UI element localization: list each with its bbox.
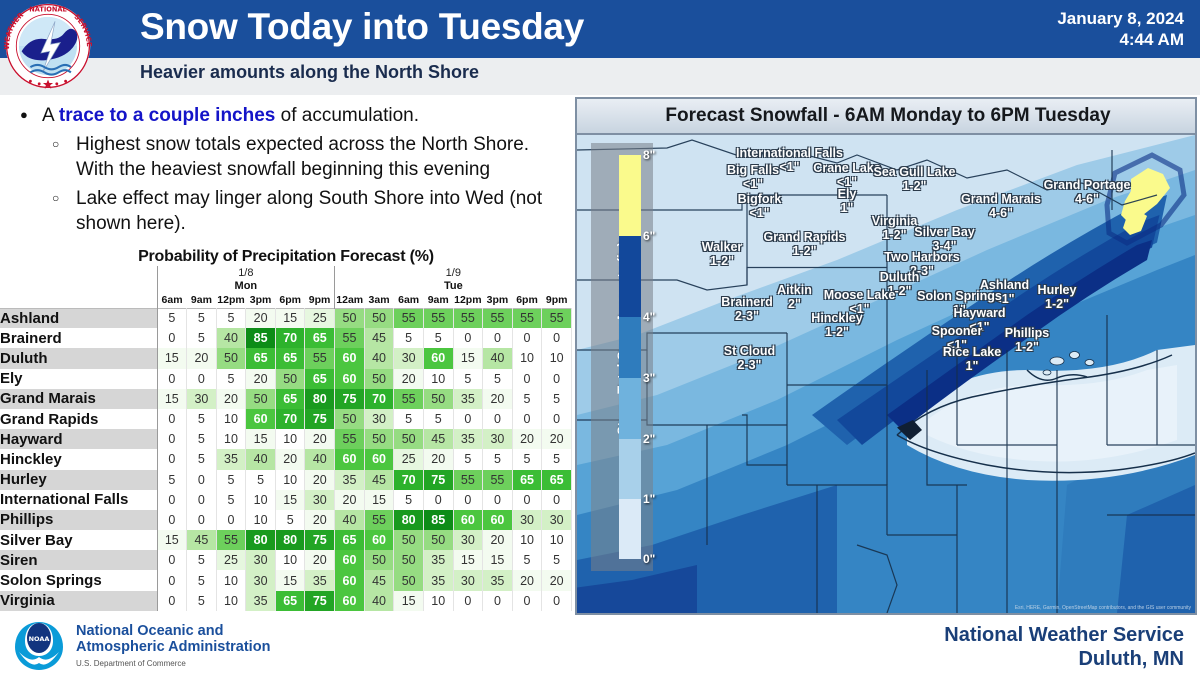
- colorbar-tick-1: 1": [643, 492, 655, 506]
- pop-cell: 10: [275, 550, 305, 570]
- map-title-bar: Forecast Snowfall - 6AM Monday to 6PM Tu…: [577, 99, 1197, 135]
- pop-cell: 60: [335, 550, 365, 570]
- pop-cell: 40: [305, 449, 335, 469]
- colorbar-tick-4: 4": [643, 310, 655, 324]
- noaa-line-2: Atmospheric Administration: [76, 639, 270, 655]
- pop-cell: 75: [305, 591, 335, 611]
- pop-cell: 80: [305, 389, 335, 409]
- national-weather-service-seal-icon: NATIONAL WEATHER SERVICE: [4, 2, 92, 90]
- pop-cell: 35: [453, 389, 483, 409]
- pop-cell: 30: [483, 429, 513, 449]
- pop-cell: 35: [335, 470, 365, 490]
- pop-cell: 15: [453, 550, 483, 570]
- pop-cell: 20: [512, 570, 542, 590]
- pop-row-city: Duluth: [0, 348, 157, 368]
- pop-cell: 25: [216, 550, 246, 570]
- pop-cell: 0: [187, 470, 217, 490]
- table-row: Silver Bay1545558080756560505030201010: [0, 530, 572, 550]
- pop-header-hour-6: 12am: [335, 293, 365, 308]
- table-row: Hurley505510203545707555556565: [0, 470, 572, 490]
- colorbar-segment-3: [619, 378, 641, 439]
- pop-header-day1-date: 1/8: [157, 266, 335, 279]
- noaa-department: U.S. Department of Commerce: [76, 659, 186, 668]
- pop-cell: 20: [542, 570, 572, 590]
- pop-cell: 0: [453, 591, 483, 611]
- table-row: Virginia0510356575604015100000: [0, 591, 572, 611]
- pop-cell: 10: [512, 348, 542, 368]
- table-row: Solon Springs05103015356045503530352020: [0, 570, 572, 590]
- pop-cell: 5: [512, 550, 542, 570]
- pop-cell: 50: [246, 389, 276, 409]
- pop-cell: 45: [364, 570, 394, 590]
- pop-row-city: Silver Bay: [0, 530, 157, 550]
- pop-cell: 80: [394, 510, 424, 530]
- pop-cell: 70: [275, 328, 305, 348]
- pop-cell: 15: [483, 550, 513, 570]
- bullet-primary-post: of accumulation.: [275, 105, 419, 126]
- pop-cell: 20: [305, 550, 335, 570]
- pop-cell: 65: [542, 470, 572, 490]
- pop-cell: 60: [483, 510, 513, 530]
- pop-cell: 10: [512, 530, 542, 550]
- pop-cell: 5: [187, 429, 217, 449]
- pop-cell: 50: [364, 550, 394, 570]
- colorbar-tick-6: 6": [643, 229, 655, 243]
- colorbar-tick-0: 0": [643, 552, 655, 566]
- pop-cell: 15: [157, 530, 187, 550]
- pop-cell: 75: [423, 470, 453, 490]
- pop-header-blank-3: [0, 293, 157, 308]
- pop-cell: 15: [275, 490, 305, 510]
- pop-cell: 15: [364, 490, 394, 510]
- pop-cell: 0: [157, 429, 187, 449]
- pop-cell: 15: [275, 570, 305, 590]
- pop-cell: 55: [335, 429, 365, 449]
- pop-header-blank-2: [0, 279, 157, 293]
- pop-cell: 0: [157, 369, 187, 389]
- pop-cell: 5: [542, 550, 572, 570]
- pop-cell: 20: [246, 308, 276, 328]
- pop-cell: 50: [216, 348, 246, 368]
- table-row: Ashland5552015255050555555555555: [0, 308, 572, 328]
- pop-cell: 35: [483, 570, 513, 590]
- pop-cell: 50: [423, 389, 453, 409]
- table-row: Ely005205065605020105500: [0, 369, 572, 389]
- header-datetime: January 8, 2024 4:44 AM: [1057, 8, 1184, 50]
- pop-cell: 0: [157, 409, 187, 429]
- pop-cell: 10: [216, 429, 246, 449]
- pop-cell: 50: [394, 570, 424, 590]
- pop-cell: 0: [453, 409, 483, 429]
- pop-cell: 65: [275, 389, 305, 409]
- pop-cell: 60: [335, 570, 365, 590]
- pop-row-city: Ely: [0, 369, 157, 389]
- pop-cell: 5: [275, 510, 305, 530]
- pop-cell: 30: [187, 389, 217, 409]
- pop-cell: 20: [275, 449, 305, 469]
- footer-bar: NOAA National Oceanic and Atmospheric Ad…: [0, 615, 1200, 675]
- pop-cell: 5: [157, 470, 187, 490]
- table-row: Grand Marais15302050658075705550352055: [0, 389, 572, 409]
- pop-cell: 5: [453, 449, 483, 469]
- table-row: Duluth1520506565556040306015401010: [0, 348, 572, 368]
- bullet-sub-2: Lake effect may linger along South Shore…: [14, 186, 562, 236]
- pop-cell: 45: [364, 470, 394, 490]
- pop-cell: 5: [542, 389, 572, 409]
- noaa-line-1: National Oceanic and: [76, 623, 270, 639]
- pop-cell: 55: [453, 470, 483, 490]
- nws-office-name: National Weather Service: [944, 623, 1184, 647]
- pop-cell: 10: [423, 369, 453, 389]
- pop-cell: 85: [246, 328, 276, 348]
- snowfall-shaded-map: [577, 135, 1195, 613]
- pop-cell: 70: [275, 409, 305, 429]
- pop-cell: 5: [187, 449, 217, 469]
- svg-text:NOAA: NOAA: [29, 635, 50, 643]
- pop-header-hour-8: 6am: [394, 293, 424, 308]
- pop-row-city: Solon Springs: [0, 570, 157, 590]
- pop-cell: 30: [542, 510, 572, 530]
- colorbar-tick-3: 3": [643, 371, 655, 385]
- bullet-primary-highlight: trace to a couple inches: [59, 105, 275, 126]
- header-time: 4:44 AM: [1057, 29, 1184, 50]
- nws-office: National Weather Service Duluth, MN: [944, 623, 1184, 671]
- pop-cell: 55: [394, 389, 424, 409]
- pop-row-city: Hurley: [0, 470, 157, 490]
- pop-header-hour-1: 9am: [187, 293, 217, 308]
- pop-cell: 5: [512, 449, 542, 469]
- pop-header-date-row: 1/81/9: [0, 266, 572, 279]
- colorbar-segment-2: [619, 439, 641, 499]
- pop-cell: 30: [246, 550, 276, 570]
- pop-cell: 25: [394, 449, 424, 469]
- forecast-snowfall-map-panel: Forecast Snowfall - 6AM Monday to 6PM Tu…: [575, 97, 1197, 615]
- pop-cell: 40: [364, 348, 394, 368]
- pop-table-body: Ashland5552015255050555555555555Brainerd…: [0, 308, 572, 611]
- pop-cell: 0: [423, 490, 453, 510]
- pop-cell: 0: [512, 490, 542, 510]
- pop-cell: 55: [423, 308, 453, 328]
- pop-cell: 0: [453, 490, 483, 510]
- pop-cell: 60: [364, 449, 394, 469]
- pop-cell: 30: [246, 570, 276, 590]
- pop-cell: 0: [483, 328, 513, 348]
- pop-row-city: Hayward: [0, 429, 157, 449]
- pop-cell: 20: [246, 369, 276, 389]
- pop-cell: 20: [305, 470, 335, 490]
- pop-cell: 5: [187, 409, 217, 429]
- pop-cell: 40: [335, 510, 365, 530]
- pop-cell: 5: [394, 490, 424, 510]
- pop-cell: 0: [157, 328, 187, 348]
- pop-cell: 50: [394, 530, 424, 550]
- pop-header-hour-13: 9pm: [542, 293, 572, 308]
- pop-cell: 15: [157, 389, 187, 409]
- colorbar-tick-2: 2": [643, 432, 655, 446]
- pop-cell: 45: [364, 328, 394, 348]
- pop-cell: 0: [157, 510, 187, 530]
- pop-cell: 0: [542, 409, 572, 429]
- colorbar-gradient: 8" 6" 4" 3" 2" 1" 0": [619, 155, 641, 559]
- pop-cell: 5: [394, 328, 424, 348]
- pop-cell: 65: [305, 328, 335, 348]
- pop-cell: 15: [157, 348, 187, 368]
- pop-cell: 85: [423, 510, 453, 530]
- pop-header-day1-name: Mon: [157, 279, 335, 293]
- pop-cell: 65: [335, 530, 365, 550]
- pop-cell: 80: [275, 530, 305, 550]
- pop-row-city: Grand Marais: [0, 389, 157, 409]
- pop-cell: 35: [216, 449, 246, 469]
- pop-cell: 60: [453, 510, 483, 530]
- left-content-panel: A trace to a couple inches of accumulati…: [0, 95, 572, 615]
- pop-cell: 20: [483, 530, 513, 550]
- pop-cell: 60: [335, 449, 365, 469]
- pop-cell: 60: [335, 591, 365, 611]
- pop-cell: 30: [512, 510, 542, 530]
- probability-of-precipitation-table: 1/81/9 MonTue 6am9am12pm3pm6pm9pm12am3am…: [0, 266, 572, 611]
- pop-cell: 70: [394, 470, 424, 490]
- pop-cell: 60: [364, 530, 394, 550]
- svg-text:NATIONAL: NATIONAL: [29, 6, 67, 14]
- pop-cell: 0: [483, 591, 513, 611]
- colorbar-segment-8: [619, 155, 641, 236]
- pop-table-header: 1/81/9 MonTue 6am9am12pm3pm6pm9pm12am3am…: [0, 266, 572, 308]
- pop-row-city: Phillips: [0, 510, 157, 530]
- pop-cell: 5: [423, 409, 453, 429]
- pop-cell: 60: [423, 348, 453, 368]
- pop-cell: 60: [246, 409, 276, 429]
- pop-cell: 30: [453, 570, 483, 590]
- snowfall-colorbar: Storm Total Snow Amounts (in) 8" 6" 4" 3…: [591, 143, 653, 571]
- table-row: International Falls0051015302015500000: [0, 490, 572, 510]
- pop-cell: 35: [423, 550, 453, 570]
- pop-cell: 20: [335, 490, 365, 510]
- colorbar-segment-1: [619, 499, 641, 559]
- pop-cell: 0: [157, 570, 187, 590]
- pop-row-city: Brainerd: [0, 328, 157, 348]
- table-row: Hayward05101510205550504535302020: [0, 429, 572, 449]
- pop-cell: 30: [453, 530, 483, 550]
- pop-cell: 30: [305, 490, 335, 510]
- pop-cell: 5: [483, 369, 513, 389]
- pop-cell: 40: [483, 348, 513, 368]
- pop-header-hour-9: 9am: [423, 293, 453, 308]
- pop-cell: 5: [157, 308, 187, 328]
- pop-cell: 5: [216, 369, 246, 389]
- pop-cell: 5: [512, 389, 542, 409]
- pop-cell: 65: [275, 348, 305, 368]
- pop-cell: 0: [483, 409, 513, 429]
- pop-cell: 35: [423, 570, 453, 590]
- pop-cell: 40: [246, 449, 276, 469]
- table-row: Grand Rapids05106070755030550000: [0, 409, 572, 429]
- pop-cell: 0: [542, 490, 572, 510]
- pop-row-city: Ashland: [0, 308, 157, 328]
- table-row: Siren052530102060505035151555: [0, 550, 572, 570]
- pop-cell: 50: [364, 429, 394, 449]
- pop-cell: 55: [335, 328, 365, 348]
- pop-cell: 65: [275, 591, 305, 611]
- pop-cell: 5: [187, 591, 217, 611]
- pop-cell: 65: [246, 348, 276, 368]
- pop-cell: 0: [512, 591, 542, 611]
- pop-cell: 20: [187, 348, 217, 368]
- nws-office-location: Duluth, MN: [944, 647, 1184, 671]
- pop-cell: 45: [423, 429, 453, 449]
- pop-cell: 50: [423, 530, 453, 550]
- pop-cell: 55: [542, 308, 572, 328]
- pop-header-day2-name: Tue: [335, 279, 572, 293]
- pop-cell: 0: [157, 591, 187, 611]
- pop-cell: 5: [187, 328, 217, 348]
- pop-header-hour-10: 12pm: [453, 293, 483, 308]
- pop-cell: 5: [246, 470, 276, 490]
- pop-cell: 40: [364, 591, 394, 611]
- bullet-list: A trace to a couple inches of accumulati…: [0, 95, 572, 236]
- pop-cell: 35: [305, 570, 335, 590]
- pop-header-hour-7: 3am: [364, 293, 394, 308]
- pop-cell: 55: [483, 470, 513, 490]
- pop-header-day2-date: 1/9: [335, 266, 572, 279]
- pop-cell: 10: [246, 490, 276, 510]
- pop-header-hour-2: 12pm: [216, 293, 246, 308]
- pop-cell: 5: [394, 409, 424, 429]
- pop-header-hour-4: 6pm: [275, 293, 305, 308]
- pop-cell: 0: [157, 490, 187, 510]
- pop-cell: 50: [364, 369, 394, 389]
- pop-cell: 10: [423, 591, 453, 611]
- pop-cell: 55: [453, 308, 483, 328]
- pop-cell: 5: [216, 470, 246, 490]
- pop-header-hour-5: 9pm: [305, 293, 335, 308]
- pop-cell: 20: [394, 369, 424, 389]
- pop-cell: 5: [483, 449, 513, 469]
- page-title: Snow Today into Tuesday: [140, 6, 584, 48]
- pop-cell: 65: [512, 470, 542, 490]
- pop-header-hour-0: 6am: [157, 293, 187, 308]
- noaa-agency-name: National Oceanic and Atmospheric Adminis…: [76, 623, 270, 655]
- pop-cell: 0: [512, 369, 542, 389]
- pop-cell: 5: [187, 550, 217, 570]
- pop-cell: 20: [305, 429, 335, 449]
- pop-cell: 0: [542, 369, 572, 389]
- pop-cell: 65: [305, 369, 335, 389]
- pop-cell: 0: [542, 591, 572, 611]
- pop-cell: 15: [453, 348, 483, 368]
- pop-cell: 15: [394, 591, 424, 611]
- colorbar-segment-6: [619, 236, 641, 317]
- bullet-primary-pre: A: [42, 105, 59, 126]
- bullet-primary: A trace to a couple inches of accumulati…: [14, 103, 562, 128]
- pop-cell: 0: [216, 510, 246, 530]
- pop-header-hour-11: 3pm: [483, 293, 513, 308]
- pop-cell: 25: [305, 308, 335, 328]
- pop-cell: 30: [394, 348, 424, 368]
- colorbar-tick-8: 8": [643, 148, 655, 162]
- pop-row-city: Virginia: [0, 591, 157, 611]
- pop-cell: 0: [157, 550, 187, 570]
- pop-cell: 15: [246, 429, 276, 449]
- pop-cell: 5: [423, 328, 453, 348]
- pop-cell: 10: [216, 591, 246, 611]
- pop-cell: 60: [335, 369, 365, 389]
- pop-row-city: International Falls: [0, 490, 157, 510]
- pop-cell: 50: [275, 369, 305, 389]
- pop-cell: 30: [364, 409, 394, 429]
- header-date: January 8, 2024: [1057, 8, 1184, 29]
- pop-cell: 10: [216, 409, 246, 429]
- pop-cell: 10: [275, 429, 305, 449]
- pop-cell: 70: [364, 389, 394, 409]
- pop-cell: 10: [216, 570, 246, 590]
- pop-header-blank: [0, 266, 157, 279]
- pop-header-day-row: MonTue: [0, 279, 572, 293]
- pop-row-city: Siren: [0, 550, 157, 570]
- pop-cell: 50: [364, 308, 394, 328]
- colorbar-segment-4: [619, 317, 641, 378]
- table-row: Brainerd05408570655545550000: [0, 328, 572, 348]
- pop-cell: 75: [335, 389, 365, 409]
- page-subtitle: Heavier amounts along the North Shore: [140, 62, 479, 83]
- map-title: Forecast Snowfall - 6AM Monday to 6PM Tu…: [665, 105, 1110, 127]
- pop-cell: 0: [187, 510, 217, 530]
- pop-cell: 55: [305, 348, 335, 368]
- pop-cell: 50: [394, 550, 424, 570]
- pop-cell: 35: [453, 429, 483, 449]
- pop-cell: 5: [216, 490, 246, 510]
- map-canvas: [577, 135, 1195, 613]
- pop-row-city: Hinckley: [0, 449, 157, 469]
- pop-cell: 55: [364, 510, 394, 530]
- pop-cell: 5: [187, 308, 217, 328]
- pop-header-hour-3: 3pm: [246, 293, 276, 308]
- pop-cell: 50: [335, 308, 365, 328]
- pop-cell: 55: [483, 308, 513, 328]
- pop-row-city: Grand Rapids: [0, 409, 157, 429]
- noaa-logo-icon: NOAA: [14, 621, 64, 671]
- pop-cell: 5: [187, 570, 217, 590]
- pop-cell: 50: [394, 429, 424, 449]
- pop-cell: 0: [187, 369, 217, 389]
- table-row: Phillips000105204055808560603030: [0, 510, 572, 530]
- pop-cell: 20: [423, 449, 453, 469]
- pop-cell: 35: [246, 591, 276, 611]
- pop-cell: 20: [512, 429, 542, 449]
- pop-cell: 50: [335, 409, 365, 429]
- map-attribution: Esri, HERE, Garmin, OpenStreetMap contri…: [1015, 605, 1191, 611]
- bullet-sub-1: Highest snow totals expected across the …: [14, 132, 562, 182]
- pop-cell: 55: [394, 308, 424, 328]
- pop-cell: 75: [305, 409, 335, 429]
- pop-cell: 80: [246, 530, 276, 550]
- pop-cell: 20: [216, 389, 246, 409]
- pop-cell: 40: [216, 328, 246, 348]
- pop-cell: 5: [542, 449, 572, 469]
- pop-cell: 0: [157, 449, 187, 469]
- pop-cell: 45: [187, 530, 217, 550]
- pop-cell: 10: [246, 510, 276, 530]
- pop-cell: 15: [275, 308, 305, 328]
- pop-cell: 0: [453, 328, 483, 348]
- pop-cell: 0: [187, 490, 217, 510]
- pop-cell: 55: [216, 530, 246, 550]
- pop-header-hour-12: 6pm: [512, 293, 542, 308]
- pop-cell: 60: [335, 348, 365, 368]
- pop-cell: 20: [542, 429, 572, 449]
- pop-cell: 0: [512, 409, 542, 429]
- pop-cell: 5: [216, 308, 246, 328]
